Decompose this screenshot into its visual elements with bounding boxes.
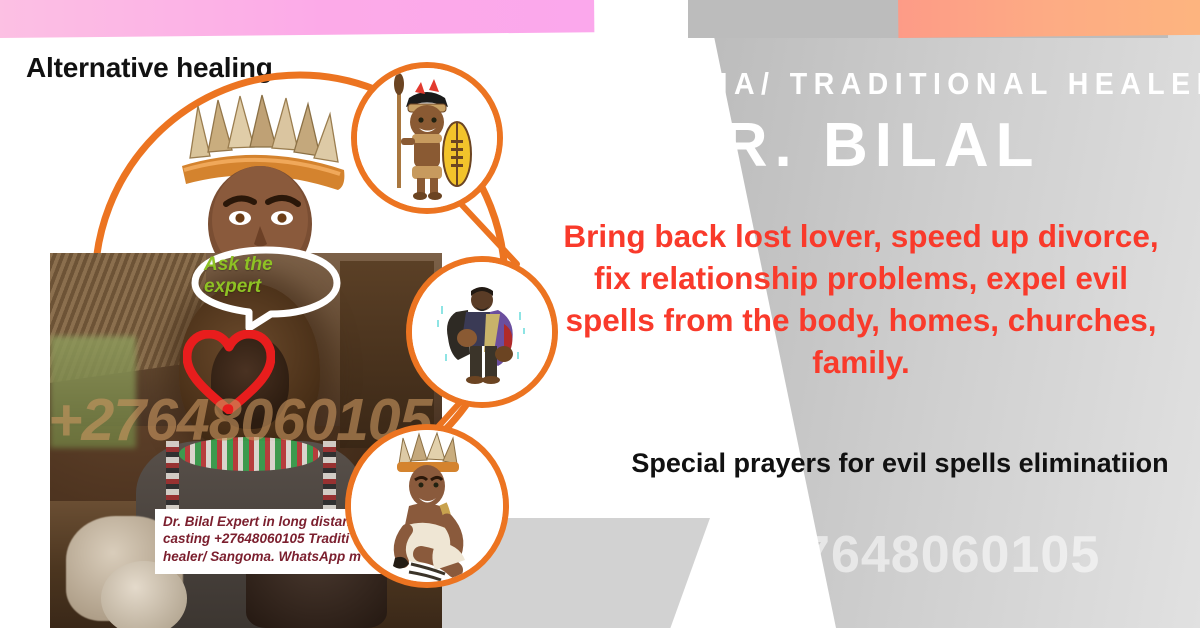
kicker-text: SANGOMA/ TRADITIONAL HEALER bbox=[567, 66, 1128, 102]
panel-watermark-phone: +27648060105 bbox=[660, 525, 1180, 585]
top-pink-bar bbox=[0, 0, 594, 38]
top-salmon-bar bbox=[898, 0, 1200, 38]
circle-image-healer-figure[interactable] bbox=[406, 256, 558, 408]
traditional-healer-figure-icon bbox=[412, 262, 552, 402]
zulu-warrior-cartoon-icon bbox=[357, 68, 497, 208]
speech-bubble-text: Ask the expert bbox=[204, 254, 314, 299]
special-prayers-text: Special prayers for evil spells eliminat… bbox=[620, 446, 1180, 482]
circle-image-zulu-warrior[interactable] bbox=[351, 62, 503, 214]
poster-canvas: Alternative healing bbox=[0, 0, 1200, 628]
healer-name-title: DR. BILAL bbox=[671, 110, 1191, 181]
services-text: Bring back lost lover, speed up divorce,… bbox=[546, 216, 1176, 384]
circle-image-crouching-warrior[interactable] bbox=[345, 424, 509, 588]
crouching-warrior-icon bbox=[351, 430, 503, 582]
